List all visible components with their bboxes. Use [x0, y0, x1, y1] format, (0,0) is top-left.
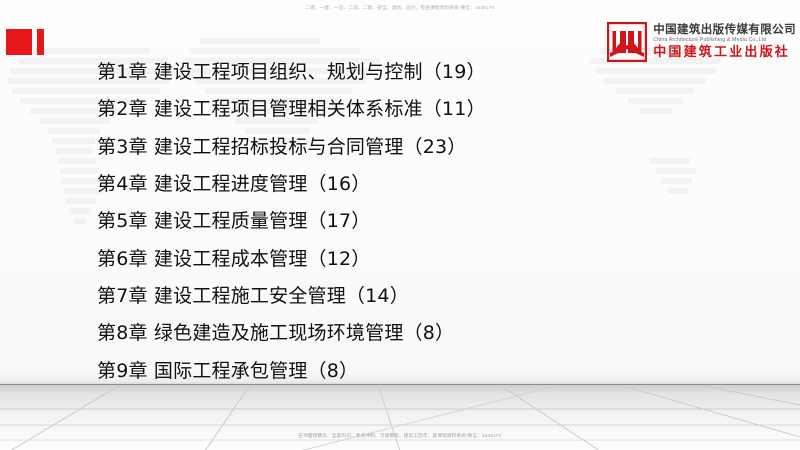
- list-item[interactable]: 第2章 建设工程项目管理相关体系标准（11）: [0, 89, 800, 126]
- list-item[interactable]: 第1章 建设工程项目组织、规划与控制（19）: [0, 52, 800, 89]
- watermark-top: 二建、一建、一造、二造、二建、安全、消防、造价、检查课程资料系统·微信：1649…: [0, 5, 800, 11]
- list-item[interactable]: 第8章 绿色建造及施工现场环境管理（8）: [0, 313, 800, 350]
- toc-item-label: 第1章 建设工程项目组织、规划与控制（19）: [97, 57, 486, 84]
- toc-item-label: 第5章 建设工程质量管理（17）: [97, 206, 371, 233]
- list-item[interactable]: 第6章 建设工程成本管理（12）: [0, 238, 800, 275]
- toc-item-label: 第8章 绿色建造及施工现场环境管理（8）: [97, 318, 454, 345]
- list-item[interactable]: 第4章 建设工程进度管理（16）: [0, 164, 800, 201]
- floor-band: [0, 384, 800, 450]
- toc-item-label: 第6章 建设工程成本管理（12）: [97, 244, 371, 271]
- list-item[interactable]: 第5章 建设工程质量管理（17）: [0, 201, 800, 238]
- slide-canvas: 二建、一建、一造、二造、二建、安全、消防、造价、检查课程资料系统·微信：1649…: [0, 0, 800, 450]
- perspective-grid: [0, 385, 800, 450]
- publisher-company-cn: 中国建筑出版传媒有限公司: [653, 25, 796, 37]
- table-of-contents: 第1章 建设工程项目组织、规划与控制（19） 第2章 建设工程项目管理相关体系标…: [0, 52, 800, 425]
- toc-item-label: 第7章 建设工程施工安全管理（14）: [97, 281, 409, 308]
- list-item[interactable]: 第3章 建设工程招标投标与合同管理（23）: [0, 127, 800, 164]
- toc-item-label: 第3章 建设工程招标投标与合同管理（23）: [97, 132, 467, 159]
- list-item[interactable]: 第7章 建设工程施工安全管理（14）: [0, 276, 800, 313]
- watermark-bottom: 名师面授精华、全套内识、考点冲刺、习题模考、建筑工历年、骏课程资料系统/微信：1…: [0, 433, 800, 439]
- toc-item-label: 第4章 建设工程进度管理（16）: [97, 169, 371, 196]
- publisher-company-en: China Architecture Publishing & Media Co…: [653, 38, 796, 43]
- toc-item-label: 第2章 建设工程项目管理相关体系标准（11）: [97, 94, 486, 121]
